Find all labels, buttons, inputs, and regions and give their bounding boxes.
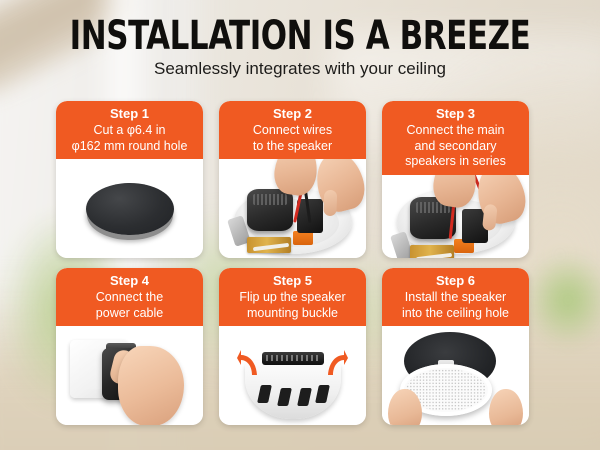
step-3-header: Step 3 Connect the main and secondary sp…: [382, 101, 529, 175]
wire-terminal-icon: [293, 231, 313, 245]
step-3-description-line-2: and secondary: [386, 139, 525, 154]
step-2-header: Step 2 Connect wires to the speaker: [219, 101, 366, 159]
vent-slot-icon: [297, 388, 312, 406]
mounting-buckle-icon: [262, 352, 324, 365]
step-1-description-line-2: φ162 mm round hole: [60, 139, 199, 154]
step-3-description-line-3: speakers in series: [386, 154, 525, 169]
page-title: INSTALLATION IS A BREEZE: [42, 16, 558, 56]
step-1-description-line-1: Cut a φ6.4 in: [60, 123, 199, 138]
finger-icon: [323, 190, 337, 216]
speaker-wiring-scene: [219, 159, 366, 258]
step-1-header: Step 1 Cut a φ6.4 in φ162 mm round hole: [56, 101, 203, 159]
step-5-label: Step 5: [223, 273, 362, 289]
step-4-description-line-1: Connect the: [60, 290, 199, 305]
step-4-header: Step 4 Connect the power cable: [56, 268, 203, 326]
hand-holding-adapter-icon: [118, 346, 184, 425]
step-2-description-line-2: to the speaker: [223, 139, 362, 154]
step-2-label: Step 2: [223, 106, 362, 122]
step-2-illustration: [219, 159, 366, 258]
step-5-header: Step 5 Flip up the speaker mounting buck…: [219, 268, 366, 326]
step-6-header: Step 6 Install the speaker into the ceil…: [382, 268, 529, 326]
vent-slot-icon: [277, 388, 292, 406]
vent-slot-icon: [315, 385, 330, 403]
step-2-description-line-1: Connect wires: [223, 123, 362, 138]
step-card-2[interactable]: Step 2 Connect wires to the speaker: [219, 101, 366, 258]
step-6-label: Step 6: [386, 273, 525, 289]
step-5-description-line-2: mounting buckle: [223, 306, 362, 321]
step-1-label: Step 1: [60, 106, 199, 122]
background-plant-right: [528, 255, 600, 345]
header-block: INSTALLATION IS A BREEZE Seamlessly inte…: [0, 16, 600, 80]
flip-arrow-left-icon: [237, 350, 261, 376]
step-card-6[interactable]: Step 6 Install the speaker into the ceil…: [382, 268, 529, 425]
speaker-magnet-icon: [247, 189, 293, 231]
speaker-series-wiring-scene: [382, 175, 529, 259]
step-6-illustration: [382, 326, 529, 425]
vent-slot-icon: [257, 385, 272, 403]
step-3-label: Step 3: [386, 106, 525, 122]
step-5-illustration: [219, 326, 366, 425]
hand-right-icon: [489, 389, 523, 425]
step-4-description-line-2: power cable: [60, 306, 199, 321]
step-card-3[interactable]: Step 3 Connect the main and secondary sp…: [382, 101, 529, 258]
steps-grid: Step 1 Cut a φ6.4 in φ162 mm round hole …: [56, 101, 529, 419]
step-card-1[interactable]: Step 1 Cut a φ6.4 in φ162 mm round hole: [56, 101, 203, 258]
step-4-label: Step 4: [60, 273, 199, 289]
step-3-illustration: [382, 175, 529, 259]
step-3-description-line-1: Connect the main: [386, 123, 525, 138]
page-subtitle: Seamlessly integrates with your ceiling: [0, 58, 600, 80]
step-6-description-line-1: Install the speaker: [386, 290, 525, 305]
step-card-5[interactable]: Step 5 Flip up the speaker mounting buck…: [219, 268, 366, 425]
round-hole-icon: [86, 183, 174, 235]
step-1-illustration: [56, 159, 203, 258]
step-card-4[interactable]: Step 4 Connect the power cable: [56, 268, 203, 425]
step-5-description-line-1: Flip up the speaker: [223, 290, 362, 305]
step-6-description-line-2: into the ceiling hole: [386, 306, 525, 321]
flip-arrow-right-icon: [324, 350, 348, 376]
step-4-illustration: [56, 326, 203, 425]
